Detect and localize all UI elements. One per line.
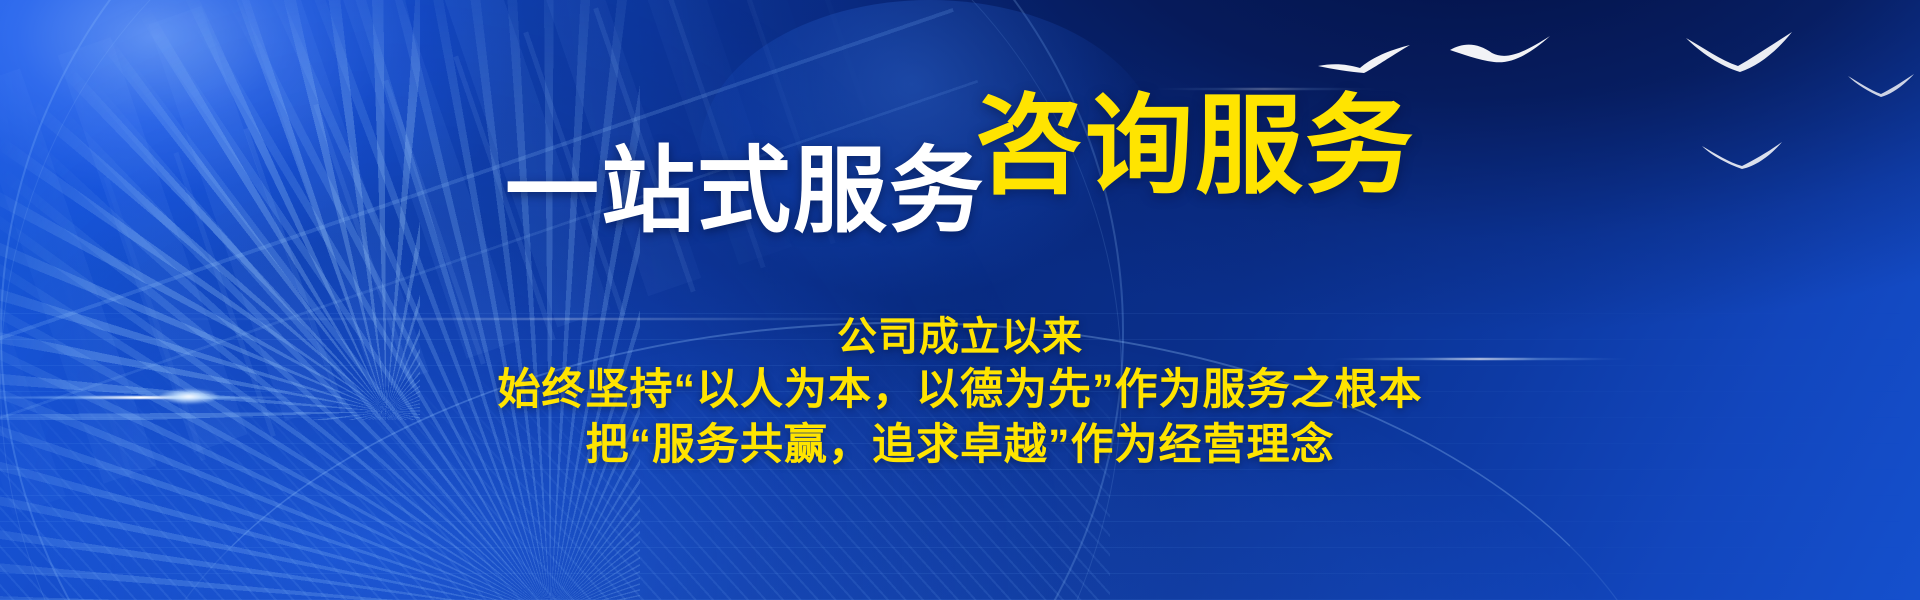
- body-line-1: 公司成立以来: [0, 312, 1920, 363]
- promo-banner: 一站式服务 咨询服务 公司成立以来 始终坚持“以人为本，以德为先”作为服务之根本…: [0, 0, 1920, 600]
- headline-accent-text: 咨询服务: [975, 92, 1415, 200]
- headline-primary-text: 一站式服务: [505, 144, 985, 238]
- headline: 一站式服务 咨询服务: [0, 92, 1920, 200]
- body-line-2: 始终坚持“以人为本，以德为先”作为服务之根本: [0, 363, 1920, 418]
- body-line-3: 把“服务共赢，追求卓越”作为经营理念: [0, 418, 1920, 473]
- body-paragraph: 公司成立以来 始终坚持“以人为本，以德为先”作为服务之根本 把“服务共赢，追求卓…: [0, 312, 1920, 473]
